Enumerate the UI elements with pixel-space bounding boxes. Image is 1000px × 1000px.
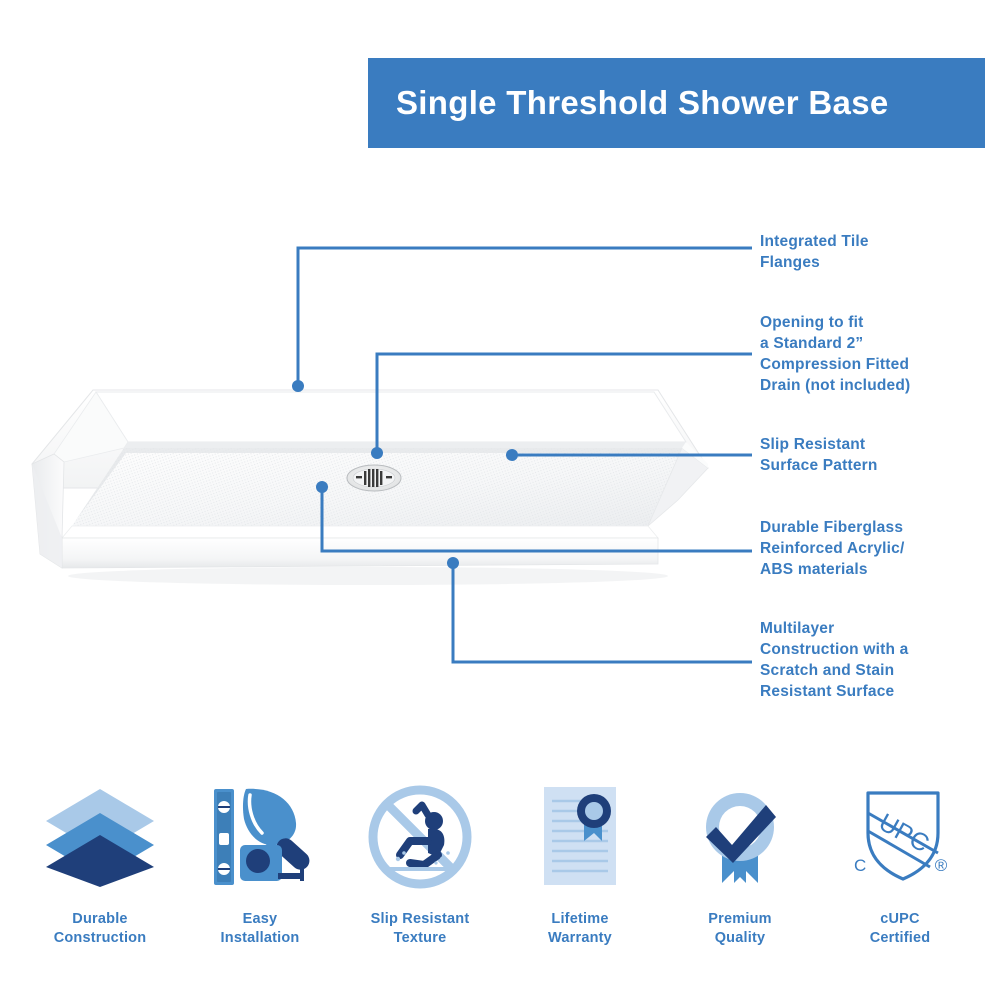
layers-icon <box>42 778 158 896</box>
callout-label-integrated-tile-flanges: Integrated Tile Flanges <box>760 231 869 273</box>
feature-label: Durable Construction <box>54 910 147 948</box>
callout-label-multilayer-construction: Multilayer Construction with a Scratch a… <box>760 618 908 702</box>
feature-label: Premium Quality <box>708 910 771 948</box>
header-banner: Single Threshold Shower Base <box>368 58 985 148</box>
award-check-icon <box>682 778 798 896</box>
feature-label: Lifetime Warranty <box>548 910 612 948</box>
feature-label: Easy Installation <box>221 910 300 948</box>
trowel-level-icon <box>202 778 318 896</box>
no-slip-icon <box>362 778 478 896</box>
feature-lifetime-warranty: Lifetime Warranty <box>500 778 660 968</box>
callout-label-drain-opening: Opening to fit a Standard 2” Compression… <box>760 312 910 396</box>
feature-label: Slip Resistant Texture <box>371 910 470 948</box>
page-title: Single Threshold Shower Base <box>368 84 889 122</box>
callout-label-slip-resistant-surface-pattern: Slip Resistant Surface Pattern <box>760 434 878 476</box>
feature-cupc-certified: UPC C ® cUPC Certified <box>820 778 980 968</box>
callout-label-durable-fiberglass-materials: Durable Fiberglass Reinforced Acrylic/ A… <box>760 517 905 580</box>
feature-easy-installation: Easy Installation <box>180 778 340 968</box>
upc-shield-icon: UPC C ® <box>842 778 958 896</box>
upc-left-mark: C <box>854 856 866 875</box>
feature-durable-construction: Durable Construction <box>20 778 180 968</box>
feature-premium-quality: Premium Quality <box>660 778 820 968</box>
certificate-icon <box>522 778 638 896</box>
upc-registered-mark: ® <box>935 856 948 875</box>
feature-label: cUPC Certified <box>870 910 931 948</box>
drain-opening <box>347 465 401 491</box>
shower-base-illustration <box>18 368 718 598</box>
feature-slip-resistant-texture: Slip Resistant Texture <box>340 778 500 968</box>
feature-row: Durable Construction <box>20 778 980 968</box>
